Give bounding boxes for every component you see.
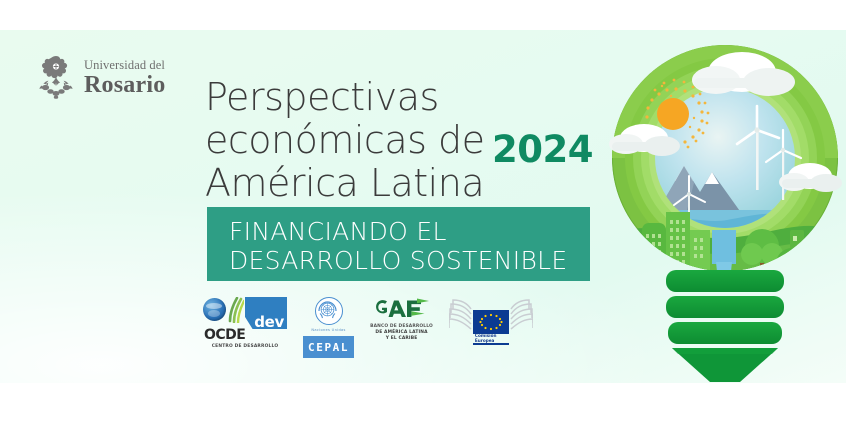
ocde-mark: dev — [203, 297, 287, 329]
university-name-line1: Universidad del — [84, 59, 165, 72]
partner-logo-caf: BANCO DE DESARROLLO DE AMÉRICA LATINA Y … — [370, 297, 433, 343]
promo-banner-root: Universidad del Rosario Perspectivas eco… — [0, 0, 846, 423]
caf-caption: BANCO DE DESARROLLO DE AMÉRICA LATINA Y … — [370, 324, 433, 343]
ocde-blue-block: dev — [245, 297, 287, 329]
caf-monogram-icon — [373, 297, 431, 321]
eu-label: Comisión Europea — [475, 333, 497, 343]
university-logo-wordmark: Universidad del Rosario — [84, 57, 165, 97]
subtitle-banner: FINANCIANDO EL DESARROLLO SOSTENIBLE — [207, 207, 590, 281]
bulb-screw-base-icon — [666, 270, 784, 382]
cepal-bar: CEPAL — [303, 336, 354, 358]
ocde-wordmark: OCDE — [203, 328, 245, 342]
cepal-un-caption: Naciones Unidas — [311, 328, 345, 332]
subtitle-line-1: FINANCIANDO EL — [229, 217, 590, 246]
partner-logos-row: dev OCDE CENTRO DE DESARROLLO Naciones U… — [203, 297, 523, 353]
edition-year: 2024 — [492, 131, 593, 168]
eu-logo-group: Comisión Europea — [449, 297, 533, 345]
eco-lightbulb-illustration — [604, 34, 846, 383]
globe-icon — [203, 298, 226, 321]
bottom-white-strip — [0, 383, 846, 423]
eu-underline — [473, 343, 509, 345]
ocde-caption: CENTRO DE DESARROLLO — [212, 344, 279, 349]
ocde-swoosh-icon — [226, 297, 244, 323]
caf-caption-line3: Y EL CARIBE — [370, 336, 433, 342]
title-line-1: Perspectivas — [205, 76, 605, 119]
deer-icon — [780, 311, 806, 338]
partner-logo-ocde-dev: dev OCDE CENTRO DE DESARROLLO — [203, 297, 287, 349]
eu-stars-icon — [473, 310, 509, 334]
ocde-dev-wordmark: dev — [254, 315, 284, 330]
partner-logo-cepal: Naciones Unidas CEPAL — [303, 297, 354, 358]
university-name-line2: Rosario — [84, 73, 165, 97]
cepal-wordmark: CEPAL — [308, 341, 349, 354]
university-logo: Universidad del Rosario — [36, 54, 165, 100]
un-emblem-icon — [315, 297, 343, 325]
ocde-globe-group — [203, 297, 245, 329]
partner-logo-comision-europea: Comisión Europea — [449, 297, 533, 345]
rosario-crest-icon — [36, 54, 76, 100]
subtitle-line-2: DESARROLLO SOSTENIBLE — [229, 246, 590, 275]
